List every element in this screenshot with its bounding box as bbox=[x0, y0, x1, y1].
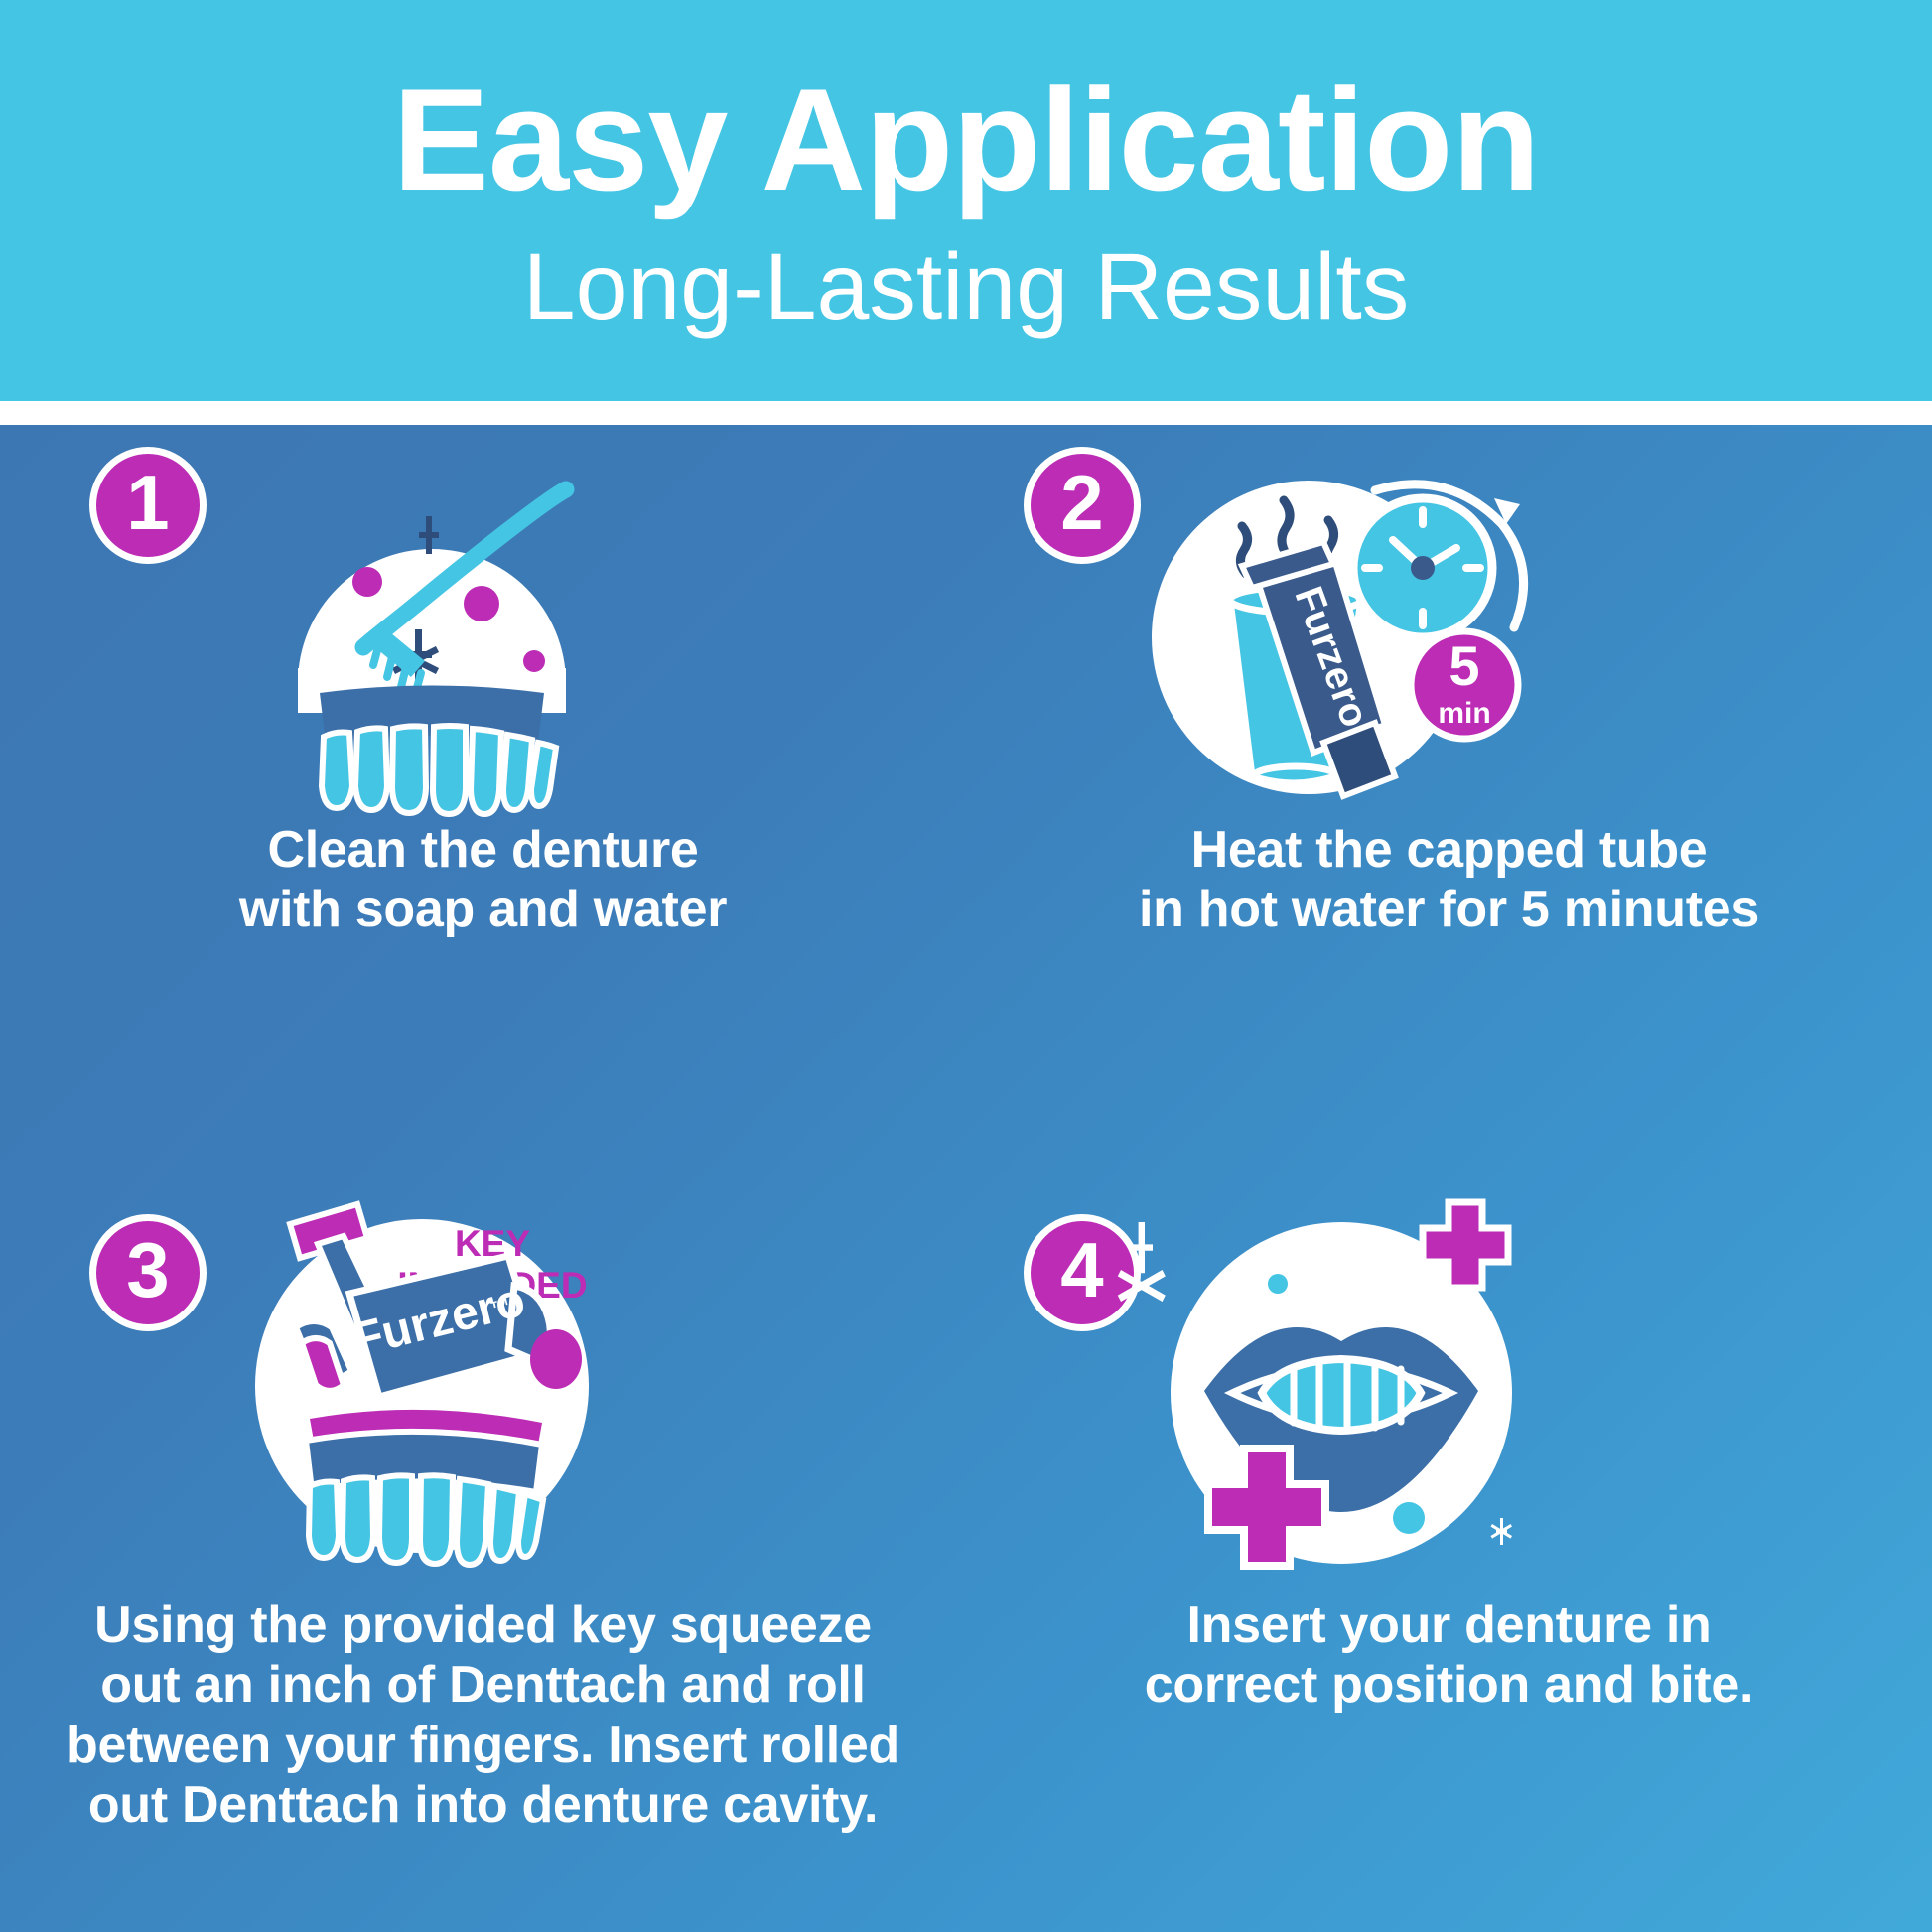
timer-badge-value: 5 bbox=[1449, 634, 1479, 697]
timer-badge-unit: min bbox=[1438, 697, 1490, 730]
header-band: Easy Application Long-Lasting Results bbox=[0, 0, 1932, 401]
step-number-badge-3: 3 bbox=[89, 1214, 207, 1331]
step-caption-1-line-2: with soap and water bbox=[24, 880, 942, 939]
step-caption-1: Clean the denture with soap and water bbox=[0, 820, 966, 940]
step-number-badge-2: 2 bbox=[1024, 447, 1141, 564]
step-card-4: 4 bbox=[966, 1178, 1932, 1932]
steps-grid: 1 bbox=[0, 425, 1932, 1932]
step-card-1: 1 bbox=[0, 425, 966, 1178]
step-caption-4: Insert your denture in correct position … bbox=[966, 1595, 1932, 1716]
infographic-poster: Easy Application Long-Lasting Results 1 bbox=[0, 0, 1932, 1932]
step-caption-4-line-2: correct position and bite. bbox=[990, 1655, 1908, 1715]
tube-with-key-squeeze-denture-icon: KEY INCLUDED Furz bbox=[248, 1202, 596, 1570]
step-number-3: 3 bbox=[126, 1231, 169, 1309]
step-caption-3-line-4: out Denttach into denture cavity. bbox=[24, 1775, 942, 1835]
step-number-1: 1 bbox=[126, 464, 169, 541]
denture-toothbrush-icon bbox=[268, 455, 596, 812]
steps-section: 1 bbox=[0, 425, 1932, 1932]
sparkle-small-icon bbox=[1491, 1518, 1513, 1545]
step-caption-3: Using the provided key squeeze out an in… bbox=[0, 1595, 966, 1835]
page-title: Easy Application bbox=[393, 68, 1540, 212]
step-caption-4-line-1: Insert your denture in bbox=[990, 1595, 1908, 1655]
timer-badge-step2: 5 min bbox=[1411, 631, 1518, 739]
step-caption-3-line-3: between your fingers. Insert rolled bbox=[24, 1716, 942, 1775]
step-caption-2-line-1: Heat the capped tube bbox=[990, 820, 1908, 880]
step-card-3: 3 KEY INCLUDED bbox=[0, 1178, 966, 1932]
page-subtitle: Long-Lasting Results bbox=[523, 240, 1409, 335]
step-caption-2: Heat the capped tube in hot water for 5 … bbox=[966, 820, 1932, 940]
tube-in-hot-water-glass-icon: Furzero ™ bbox=[1125, 449, 1522, 806]
header-divider bbox=[0, 401, 1932, 425]
step-card-2: 2 bbox=[966, 425, 1932, 1178]
sparkle-icon bbox=[1118, 1222, 1166, 1302]
step-number-badge-1: 1 bbox=[89, 447, 207, 564]
step-caption-3-line-1: Using the provided key squeeze bbox=[24, 1595, 942, 1655]
step-caption-2-line-2: in hot water for 5 minutes bbox=[990, 880, 1908, 939]
step-caption-3-line-2: out an inch of Denttach and roll bbox=[24, 1655, 942, 1715]
step-number-2: 2 bbox=[1060, 464, 1103, 541]
step-caption-1-line-1: Clean the denture bbox=[24, 820, 942, 880]
mouth-with-denture-inserted-icon bbox=[1105, 1202, 1522, 1580]
step-number-4: 4 bbox=[1060, 1231, 1103, 1309]
